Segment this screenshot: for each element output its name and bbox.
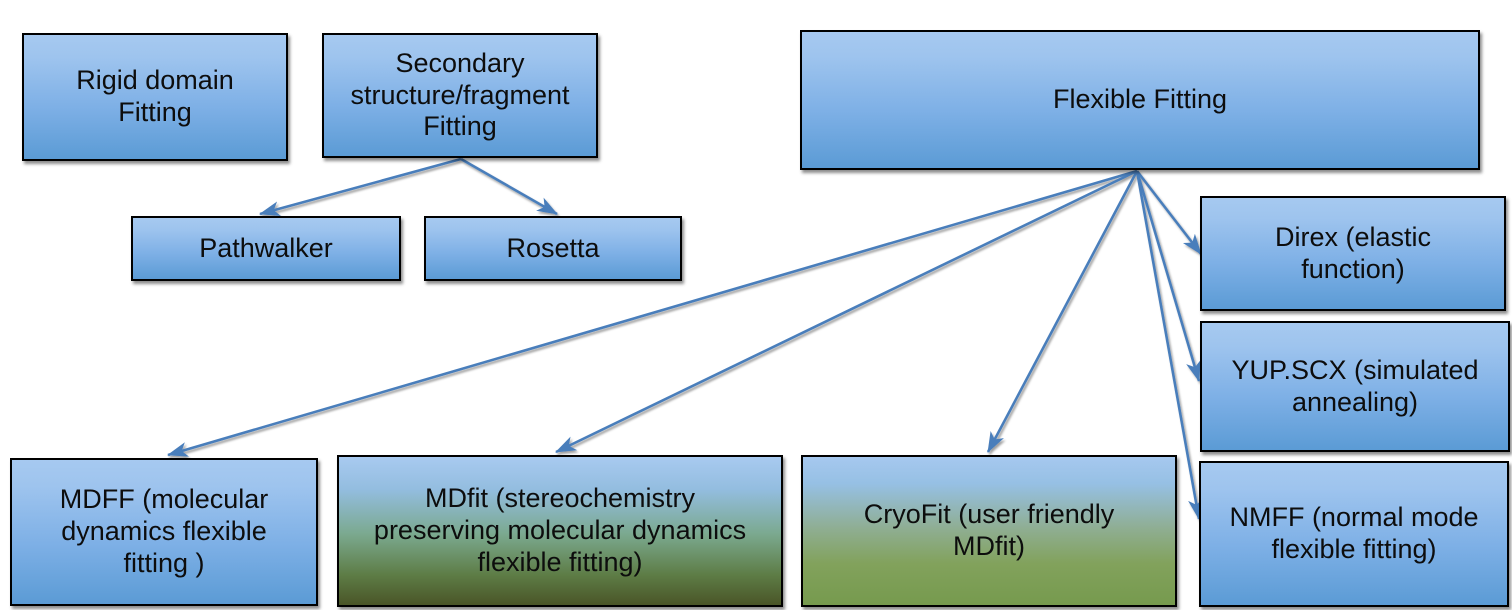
node-yup-scx[interactable]: YUP.SCX (simulated annealing): [1200, 321, 1510, 452]
edge-flexible-to-mdfit: [556, 171, 1137, 452]
edge-flexible-to-cryofit: [988, 171, 1137, 452]
node-cryofit[interactable]: CryoFit (user friendly MDfit): [801, 455, 1177, 607]
edge-flexible-to-mdff: [168, 171, 1137, 455]
edge-flexible-to-direx: [1137, 171, 1201, 254]
node-rigid-domain-fitting[interactable]: Rigid domain Fitting: [22, 33, 288, 161]
edge-secondary-to-pathwalker: [260, 159, 461, 214]
node-nmff[interactable]: NMFF (normal mode flexible fitting): [1199, 461, 1509, 607]
edge-secondary-to-rosetta: [461, 159, 557, 214]
node-secondary-structure-fragment-fitting[interactable]: Secondary structure/fragment Fitting: [322, 33, 598, 158]
node-direx[interactable]: Direx (elastic function): [1200, 196, 1506, 311]
node-flexible-fitting[interactable]: Flexible Fitting: [800, 30, 1480, 170]
diagram-canvas: Rigid domain FittingSecondary structure/…: [0, 0, 1512, 610]
node-pathwalker[interactable]: Pathwalker: [131, 216, 401, 281]
node-mdfit[interactable]: MDfit (stereochemistry preserving molecu…: [337, 455, 783, 607]
node-rosetta[interactable]: Rosetta: [424, 216, 682, 281]
node-mdff[interactable]: MDFF (molecular dynamics flexible fittin…: [10, 458, 318, 606]
